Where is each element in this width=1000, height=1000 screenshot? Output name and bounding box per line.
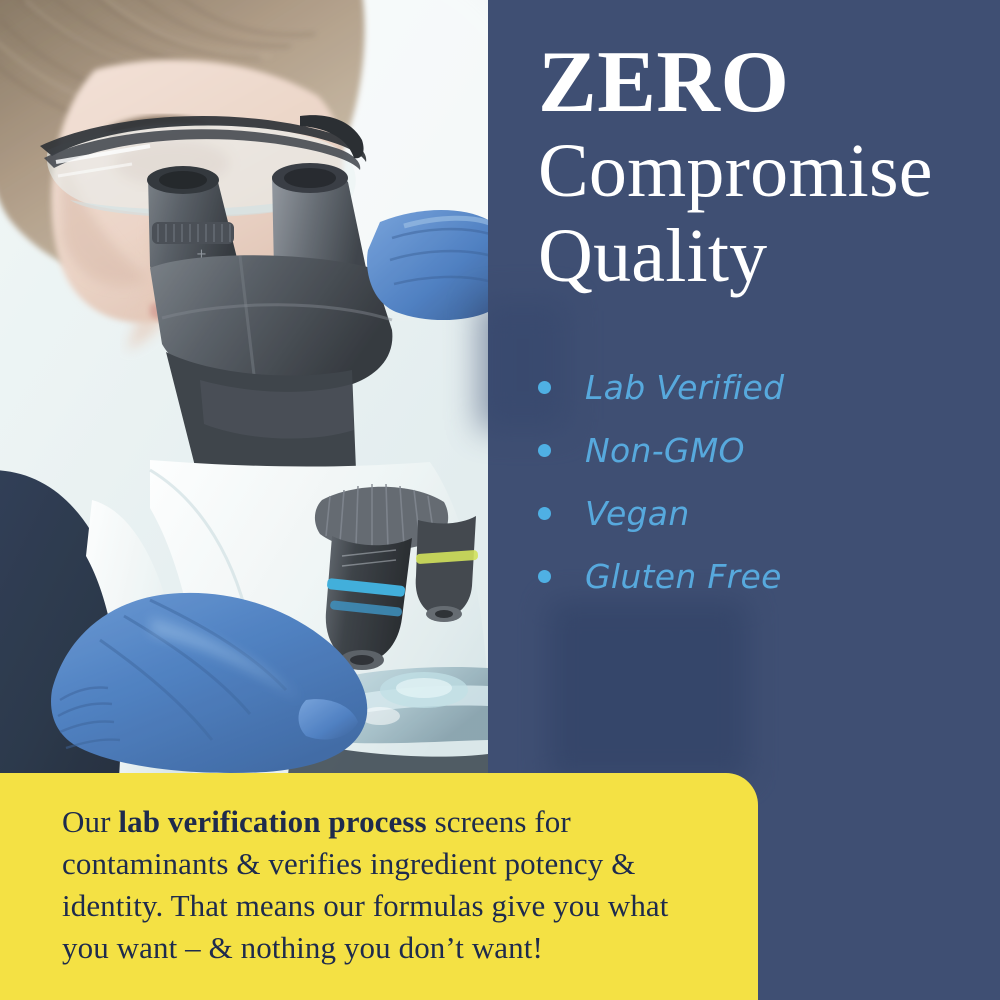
benefits-list: Lab Verified Non-GMO Vegan Gluten Free	[538, 356, 990, 608]
caption-text: Our lab verification process screens for…	[62, 801, 722, 969]
benefit-item-lab-verified: Lab Verified	[538, 356, 990, 419]
caption-bold-phrase: lab verification process	[118, 804, 426, 839]
laboratory-photo: +	[0, 0, 488, 775]
benefit-item-vegan: Vegan	[538, 482, 990, 545]
benefit-item-non-gmo: Non-GMO	[538, 419, 990, 482]
benefit-label: Vegan	[585, 494, 690, 533]
headline-line-2: Compromise	[538, 129, 990, 214]
benefit-label: Non-GMO	[585, 431, 745, 470]
headline: ZERO Compromise Quality	[538, 38, 990, 299]
headline-line-3: Quality	[538, 214, 990, 299]
benefit-label: Gluten Free	[585, 557, 782, 596]
caption-box: Our lab verification process screens for…	[0, 773, 758, 1000]
bullet-dot-icon	[538, 507, 551, 520]
panel-background-shape	[548, 600, 748, 780]
benefit-label: Lab Verified	[585, 368, 784, 407]
benefit-item-gluten-free: Gluten Free	[538, 545, 990, 608]
scientist-microscope-illustration: +	[0, 0, 488, 775]
bullet-dot-icon	[538, 570, 551, 583]
headline-emphasis: ZERO	[538, 38, 990, 129]
marketing-creative: +	[0, 0, 1000, 1000]
bullet-dot-icon	[538, 381, 551, 394]
caption-part-1: Our	[62, 804, 118, 839]
bullet-dot-icon	[538, 444, 551, 457]
